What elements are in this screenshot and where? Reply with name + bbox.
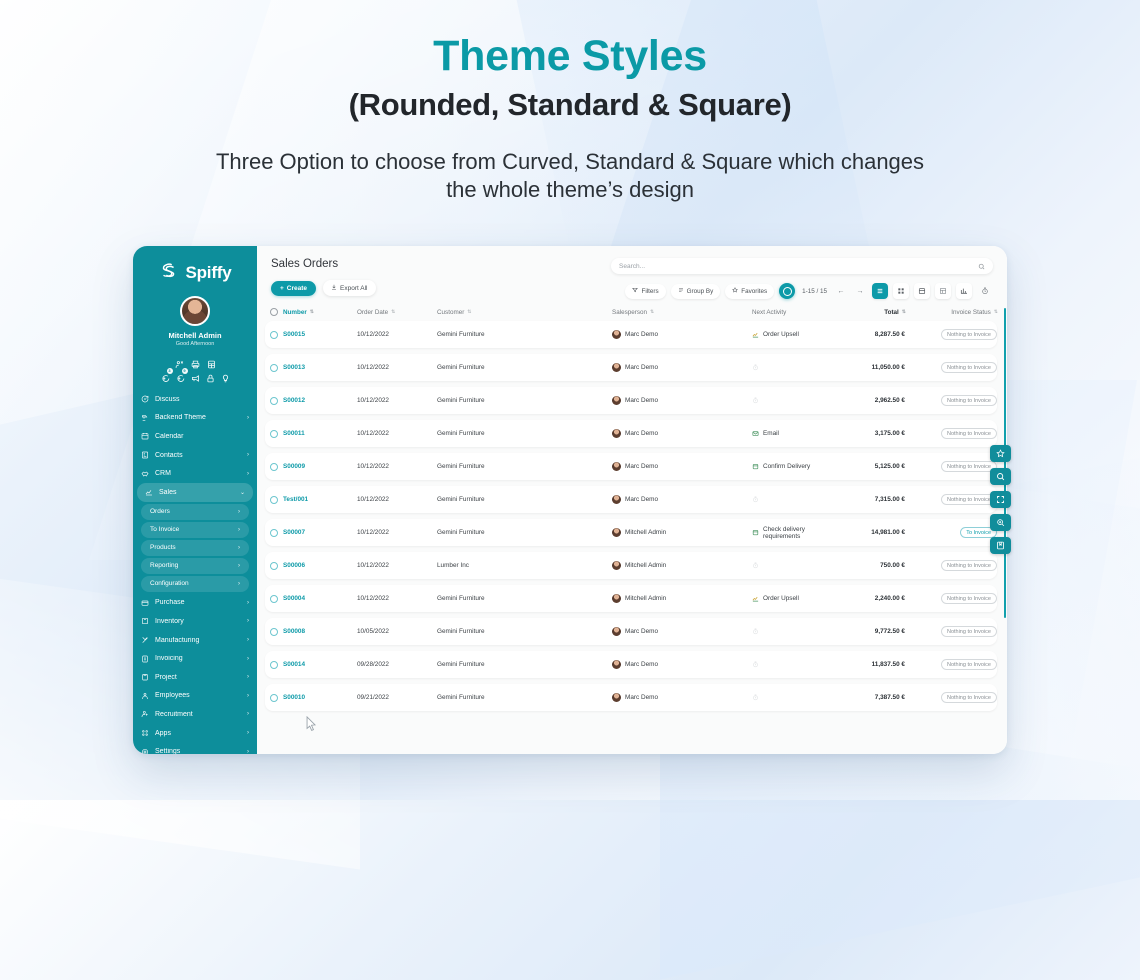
select-all-checkbox[interactable] [265,308,283,316]
topbar-right: Search... Filters [611,258,993,299]
status-badge: Nothing to Invoice [941,593,997,604]
cell-order-date: 10/12/2022 [357,364,437,371]
table-row[interactable]: S0000410/12/2022Gemini FurnitureMitchell… [265,585,997,612]
export-all-button[interactable]: Export All [323,280,375,296]
avatar[interactable] [180,296,210,326]
checkbox-icon [270,595,278,603]
column-label: Total [884,309,899,316]
avatar [612,495,621,504]
status-badge: Nothing to Invoice [941,428,997,439]
people-icon [141,692,149,700]
sidebar-subitem-label: Orders [150,508,232,515]
cell-number[interactable]: S00011 [283,430,357,437]
users-icon[interactable] [175,356,184,365]
chevron-right-icon: › [238,563,240,569]
cell-next-activity [752,397,827,404]
sidebar-item-label: Calendar [155,433,243,440]
avatar [612,363,621,372]
cell-invoice-status: Nothing to Invoice [905,362,997,373]
cell-total: 750.00 € [827,562,905,569]
table-row[interactable]: S0001409/28/2022Gemini FurnitureMarc Dem… [265,651,997,678]
row-checkbox[interactable] [265,628,283,636]
sidebar-item-settings[interactable]: Settings › [133,742,257,754]
cell-total: 11,050.00 € [827,364,905,371]
cart-icon [141,599,149,607]
activity-label: Email [763,430,779,437]
chat-badge: 3 [167,368,173,374]
contact-card-icon [141,451,149,459]
content-topbar: Sales Orders + Create Export All [257,246,1007,299]
page-title: Sales Orders [271,258,601,270]
chevron-right-icon: › [247,749,249,754]
kanban-view-button[interactable] [893,283,909,299]
calendar-icon [752,529,759,536]
cell-salesperson: Marc Demo [612,429,752,438]
table-row[interactable]: S0000710/12/2022Gemini FurnitureMitchell… [265,519,997,546]
cell-number[interactable]: S00009 [283,463,357,470]
cell-customer: Gemini Furniture [437,430,612,437]
row-checkbox[interactable] [265,496,283,504]
cell-order-date: 10/12/2022 [357,562,437,569]
calculator-icon[interactable] [207,356,216,365]
cell-customer: Lumber Inc [437,562,612,569]
chevron-right-icon: › [247,674,249,680]
clock-icon [752,694,759,701]
cell-next-activity [752,562,827,569]
chat-bubble-icon[interactable]: 3 [161,370,170,379]
avatar [612,693,621,702]
cell-next-activity: Email [752,430,827,437]
cell-salesperson: Marc Demo [612,462,752,471]
plus-icon: + [280,285,284,292]
avatar [612,561,621,570]
list-view-button[interactable] [872,283,888,299]
column-label: Number [283,309,307,316]
clock-icon [752,562,759,569]
spiffy-logo-icon [158,262,180,284]
sidebar-item-invoicing[interactable]: Invoicing › [133,649,257,668]
activity-label: Order Upsell [763,331,799,338]
avatar [612,396,621,405]
salesperson-name: Mitchell Admin [625,529,666,536]
cell-number[interactable]: S00015 [283,331,357,338]
pivot-view-button[interactable] [935,283,951,299]
chevron-right-icon: › [247,693,249,699]
chevron-right-icon: › [247,452,249,458]
favorite-star-button[interactable] [990,445,1011,462]
checkbox-icon [270,562,278,570]
sidebar-subitem-reporting[interactable]: Reporting › [141,558,249,574]
sidebar-item-label: Purchase [155,599,241,606]
cell-salesperson: Mitchell Admin [612,594,752,603]
column-header-salesperson[interactable]: Salesperson⇅ [612,309,752,316]
cell-total: 11,837.50 € [827,661,905,668]
sidebar-item-calendar[interactable]: Calendar [133,427,257,446]
cell-invoice-status: Nothing to Invoice [905,626,997,637]
cell-customer: Gemini Furniture [437,529,612,536]
orders-table: Number⇅ Order Date⇅ Customer⇅ Salesperso… [257,308,1007,754]
user-greeting: Good Afternoon [176,341,215,347]
print-icon[interactable] [191,356,200,365]
email-icon [752,430,759,437]
cell-salesperson: Mitchell Admin [612,528,752,537]
gear-icon [141,748,149,754]
sidebar-item-label: Apps [155,730,241,737]
checkbox-icon [270,529,278,537]
chart-line-icon [145,488,153,496]
filter-icon [632,287,638,295]
chevron-right-icon: › [238,527,240,533]
table-row[interactable]: S0001110/12/2022Gemini FurnitureMarc Dem… [265,420,997,447]
cell-invoice-status: Nothing to Invoice [905,395,997,406]
cell-customer: Gemini Furniture [437,694,612,701]
row-checkbox[interactable] [265,562,283,570]
chevron-right-icon: › [247,711,249,717]
cell-total: 7,387.50 € [827,694,905,701]
user-block: Mitchell Admin Good Afternoon [133,296,257,347]
salesperson-name: Marc Demo [625,463,658,470]
cell-total: 3,175.00 € [827,430,905,437]
table-row[interactable]: Test/00110/12/2022Gemini FurnitureMarc D… [265,486,997,513]
cell-salesperson: Mitchell Admin [612,561,752,570]
sidebar-subitem-label: Configuration [150,580,232,587]
row-checkbox[interactable] [265,430,283,438]
message-icon[interactable]: 9 [176,370,185,379]
clock-icon [752,628,759,635]
sidebar-item-label: Backend Theme [155,414,241,421]
create-button[interactable]: + Create [271,281,316,296]
prev-page-button[interactable]: ← [834,284,848,298]
salesperson-name: Marc Demo [625,694,658,701]
floating-toolbar [990,445,1011,554]
cell-invoice-status: Nothing to Invoice [905,560,997,571]
sidebar-subitem-orders[interactable]: Orders › [141,504,249,520]
row-checkbox[interactable] [265,694,283,702]
avatar [612,330,621,339]
salesperson-name: Marc Demo [625,628,658,635]
salesperson-name: Marc Demo [625,496,658,503]
column-label: Salesperson [612,309,647,316]
cell-invoice-status: Nothing to Invoice [905,428,997,439]
sidebar-item-label: Settings [155,748,241,754]
tools-icon [141,636,149,644]
cell-next-activity [752,694,827,701]
quick-icon-row-1 [133,356,257,365]
refresh-button[interactable] [779,283,795,299]
salesperson-name: Mitchell Admin [625,562,666,569]
column-label: Next Activity [752,309,786,316]
cell-number[interactable]: S00004 [283,595,357,602]
checkbox-icon [270,397,278,405]
cell-customer: Gemini Furniture [437,628,612,635]
next-page-button[interactable]: → [853,284,867,298]
salesperson-name: Marc Demo [625,331,658,338]
control-row: Filters Group By Favorites [611,283,993,299]
checkbox-icon [270,308,278,316]
column-label: Order Date [357,309,388,316]
app-window-mockup: Spiffy Mitchell Admin Good Afternoon 3 [133,246,1007,754]
filters-label: Filters [641,288,658,295]
group-by-button[interactable]: Group By [671,284,721,299]
column-header-invoice-status[interactable]: Invoice Status⇅ [905,309,997,316]
checkbox-icon [270,463,278,471]
cell-customer: Gemini Furniture [437,331,612,338]
avatar [612,462,621,471]
chevron-right-icon: › [247,730,249,736]
status-badge: Nothing to Invoice [941,659,997,670]
brand[interactable]: Spiffy [133,246,257,284]
chevron-right-icon: › [238,545,240,551]
sidebar-subitem-configuration[interactable]: Configuration › [141,576,249,592]
quick-icon-row-2: 3 9 [133,370,257,379]
box-icon [141,617,149,625]
status-badge: Nothing to Invoice [941,560,997,571]
search-input[interactable]: Search... [611,258,993,274]
invoice-icon [141,655,149,663]
lock-icon[interactable] [206,370,215,379]
salesperson-name: Marc Demo [625,364,658,371]
bookmark-button[interactable] [990,537,1011,554]
sidebar-item-label: Recruitment [155,711,241,718]
sidebar-item-employees[interactable]: Employees › [133,687,257,706]
cell-order-date: 09/28/2022 [357,661,437,668]
fullscreen-button[interactable] [990,491,1011,508]
cell-customer: Gemini Furniture [437,397,612,404]
clipboard-icon [141,673,149,681]
activity-label: Confirm Delivery [763,463,810,470]
calendar-icon [141,432,149,440]
sidebar-item-contacts[interactable]: Contacts › [133,446,257,465]
checkbox-icon [270,661,278,669]
table-body: S0001510/12/2022Gemini FurnitureMarc Dem… [257,321,1007,711]
sidebar-subitem-label: To Invoice [150,526,232,533]
chevron-right-icon: › [247,637,249,643]
topbar-left: Sales Orders + Create Export All [271,258,601,296]
sidebar-subitem-label: Products [150,544,232,551]
favorites-label: Favorites [741,288,767,295]
chart-icon [752,331,759,338]
sidebar-subitem-products[interactable]: Products › [141,540,249,556]
cell-total: 8,287.50 € [827,331,905,338]
checkbox-icon [270,628,278,636]
sidebar-item-label: Inventory [155,618,241,625]
graph-view-button[interactable] [956,283,972,299]
group-by-label: Group By [687,288,714,295]
avatar [612,594,621,603]
chart-icon [752,595,759,602]
checkbox-icon [270,430,278,438]
row-checkbox[interactable] [265,397,283,405]
cell-total: 9,772.50 € [827,628,905,635]
chevron-right-icon: › [247,471,249,477]
avatar [612,528,621,537]
cell-next-activity [752,364,827,371]
cell-number[interactable]: S00012 [283,397,357,404]
sidebar-item-crm[interactable]: CRM › [133,464,257,483]
chevron-right-icon: › [238,581,240,587]
message-badge: 9 [182,368,188,374]
cell-order-date: 10/12/2022 [357,496,437,503]
cell-customer: Gemini Furniture [437,463,612,470]
status-badge: Nothing to Invoice [941,626,997,637]
hero-title: Theme Styles [0,34,1140,80]
cell-salesperson: Marc Demo [612,363,752,372]
cell-order-date: 10/12/2022 [357,463,437,470]
status-badge: Nothing to Invoice [941,494,997,505]
salesperson-name: Marc Demo [625,430,658,437]
cell-total: 5,125.00 € [827,463,905,470]
cell-order-date: 10/12/2022 [357,430,437,437]
table-row[interactable]: S0001009/21/2022Gemini FurnitureMarc Dem… [265,684,997,711]
megaphone-icon[interactable] [191,370,200,379]
chevron-right-icon: › [247,656,249,662]
sidebar-item-sales[interactable]: Sales ⌄ [137,483,253,502]
cell-order-date: 10/12/2022 [357,397,437,404]
sort-icon: ⇅ [650,309,653,315]
clock-icon [752,496,759,503]
row-checkbox[interactable] [265,331,283,339]
table-row[interactable]: S0000610/12/2022Lumber IncMitchell Admin… [265,552,997,579]
column-label: Invoice Status [951,309,991,316]
salesperson-name: Marc Demo [625,661,658,668]
create-button-label: Create [287,285,307,292]
chevron-right-icon: › [247,618,249,624]
cell-number[interactable]: S00013 [283,364,357,371]
cell-number[interactable]: Test/001 [283,496,357,503]
row-checkbox[interactable] [265,529,283,537]
zoom-in-button[interactable] [990,514,1011,531]
column-header-number[interactable]: Number⇅ [283,309,357,316]
cell-total: 14,981.00 € [827,529,905,536]
hero-subtitle: (Rounded, Standard & Square) [0,88,1140,122]
avatar [612,627,621,636]
cell-next-activity: Check delivery requirements [752,526,827,540]
cell-salesperson: Marc Demo [612,627,752,636]
activity-view-button[interactable] [977,283,993,299]
sidebar-item-label: Contacts [155,452,241,459]
cell-invoice-status: To Invoice [905,527,997,538]
sidebar-item-project[interactable]: Project › [133,668,257,687]
cell-number[interactable]: S00014 [283,661,357,668]
sidebar-item-label: Sales [159,489,234,496]
calendar-view-button[interactable] [914,283,930,299]
status-badge: Nothing to Invoice [941,461,997,472]
cell-number[interactable]: S00007 [283,529,357,536]
cell-invoice-status: Nothing to Invoice [905,329,997,340]
cell-number[interactable]: S00010 [283,694,357,701]
sidebar-subitem-to-invoice[interactable]: To Invoice › [141,522,249,538]
row-checkbox[interactable] [265,463,283,471]
cell-salesperson: Marc Demo [612,330,752,339]
filters-button[interactable]: Filters [625,284,665,299]
column-header-customer[interactable]: Customer⇅ [437,309,612,316]
bulb-icon[interactable] [221,370,230,379]
search-placeholder: Search... [619,263,978,270]
row-checkbox[interactable] [265,595,283,603]
table-row[interactable]: S0001310/12/2022Gemini FurnitureMarc Dem… [265,354,997,381]
cell-number[interactable]: S00006 [283,562,357,569]
cell-total: 2,240.00 € [827,595,905,602]
checkbox-icon [270,694,278,702]
sidebar-subitem-label: Reporting [150,562,232,569]
sort-icon: ⇅ [994,309,997,315]
cell-total: 7,315.00 € [827,496,905,503]
table-row[interactable]: S0000910/12/2022Gemini FurnitureMarc Dem… [265,453,997,480]
cell-number[interactable]: S00008 [283,628,357,635]
cell-invoice-status: Nothing to Invoice [905,659,997,670]
avatar [612,429,621,438]
favorites-button[interactable]: Favorites [725,284,774,299]
cell-invoice-status: Nothing to Invoice [905,494,997,505]
cell-invoice-status: Nothing to Invoice [905,692,997,703]
checkbox-icon [270,364,278,372]
palette-icon [141,414,149,422]
sidebar-item-label: Invoicing [155,655,241,662]
pagination-text: 1-15 / 15 [800,288,829,295]
table-row[interactable]: S0000810/05/2022Gemini FurnitureMarc Dem… [265,618,997,645]
search-button[interactable] [990,468,1011,485]
row-checkbox[interactable] [265,364,283,372]
sidebar-item-inventory[interactable]: Inventory › [133,612,257,631]
sidebar-menu: Discuss Backend Theme › Calendar [133,390,257,754]
clock-icon [752,397,759,404]
column-header-next-activity[interactable]: Next Activity [752,309,827,316]
chevron-right-icon: › [247,600,249,606]
handshake-icon [141,470,149,478]
search-icon[interactable] [978,257,985,275]
user-name: Mitchell Admin [168,331,221,340]
chevron-down-icon: ⌄ [240,489,245,496]
cell-customer: Gemini Furniture [437,595,612,602]
sidebar-item-recruitment[interactable]: Recruitment › [133,705,257,724]
column-header-total[interactable]: Total⇅ [827,309,905,316]
cell-total: 2,962.50 € [827,397,905,404]
cell-order-date: 10/05/2022 [357,628,437,635]
checkbox-icon [270,331,278,339]
person-plus-icon [141,710,149,718]
cell-salesperson: Marc Demo [612,396,752,405]
status-badge: Nothing to Invoice [941,692,997,703]
calendar-icon [752,463,759,470]
salesperson-name: Marc Demo [625,397,658,404]
sidebar-item-purchase[interactable]: Purchase › [133,594,257,613]
main-content: Sales Orders + Create Export All [257,246,1007,754]
cell-order-date: 10/12/2022 [357,595,437,602]
sidebar-item-discuss[interactable]: Discuss [133,390,257,409]
sidebar: Spiffy Mitchell Admin Good Afternoon 3 [133,246,257,754]
cell-next-activity [752,628,827,635]
table-row[interactable]: S0001210/12/2022Gemini FurnitureMarc Dem… [265,387,997,414]
chevron-right-icon: › [238,509,240,515]
activity-label: Order Upsell [763,595,799,602]
star-icon [732,287,738,295]
cell-invoice-status: Nothing to Invoice [905,461,997,472]
cell-order-date: 10/12/2022 [357,529,437,536]
row-checkbox[interactable] [265,661,283,669]
grid-apps-icon [141,729,149,737]
list-lines-icon [678,287,684,295]
table-row[interactable]: S0001510/12/2022Gemini FurnitureMarc Dem… [265,321,997,348]
action-button-row: + Create Export All [271,280,601,296]
cell-order-date: 09/21/2022 [357,694,437,701]
sidebar-item-backend-theme[interactable]: Backend Theme › [133,409,257,428]
sidebar-item-apps[interactable]: Apps › [133,724,257,743]
column-header-order-date[interactable]: Order Date⇅ [357,309,437,316]
checkbox-icon [270,496,278,504]
sidebar-item-manufacturing[interactable]: Manufacturing › [133,631,257,650]
salesperson-name: Mitchell Admin [625,595,666,602]
sort-icon: ⇅ [391,309,394,315]
